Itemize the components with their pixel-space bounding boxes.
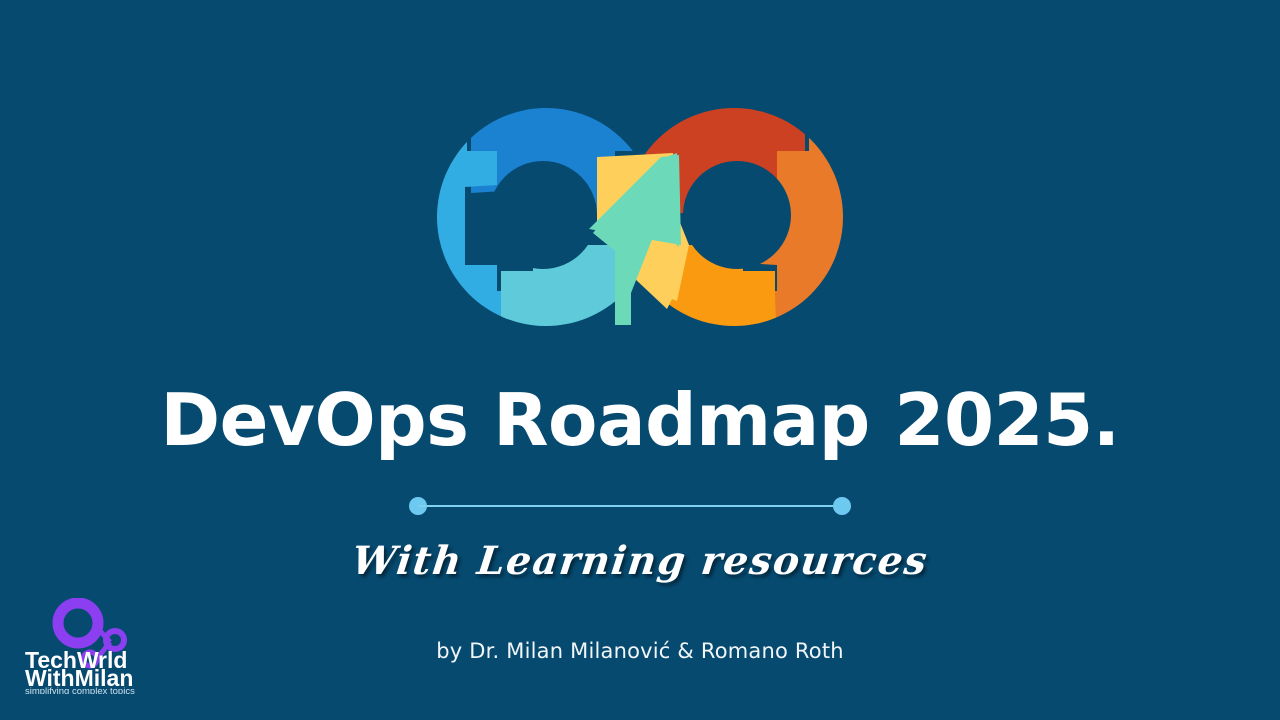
brand-big-ring-icon (58, 603, 98, 643)
divider (409, 497, 851, 515)
right-cycle-hole (683, 161, 791, 269)
page-title: DevOps Roadmap 2025. (0, 378, 1280, 462)
page-subtitle: With Learning resources (0, 538, 1280, 584)
divider-dot-right-icon (833, 497, 851, 515)
brand-tagline: simplifying complex topics (25, 686, 135, 694)
left-cycle-hole (489, 161, 597, 269)
divider-rule (418, 505, 842, 507)
techworld-withmilan-logo: TechW rld WithMilan simplifying complex … (22, 598, 148, 694)
devops-infinity-loop-icon (425, 95, 855, 340)
authors-line: by Dr. Milan Milanović & Romano Roth (0, 639, 1280, 663)
slide-root: DevOps Roadmap 2025. With Learning resou… (0, 0, 1280, 720)
